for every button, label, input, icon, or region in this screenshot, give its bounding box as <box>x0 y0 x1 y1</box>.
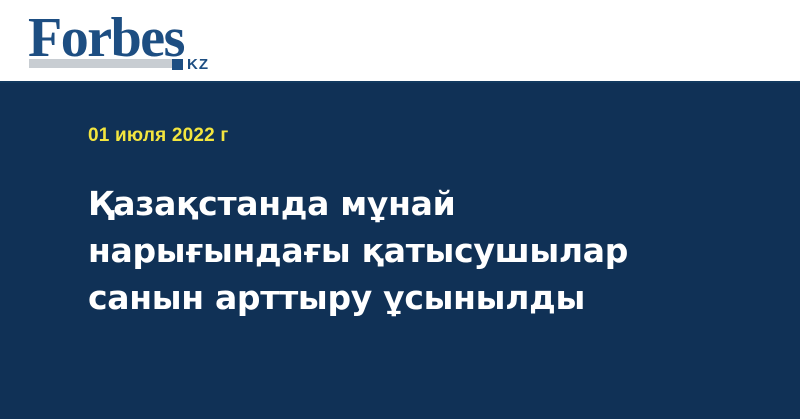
hero-panel: 01 июля 2022 г Қазақстанда мұнай нарығын… <box>0 83 800 419</box>
forbes-kz-logo[interactable]: Forbes KZ <box>28 10 228 76</box>
logo-kz-lockup: KZ <box>172 57 209 72</box>
article-share-card: Forbes KZ 01 июля 2022 г Қазақстанда мұн… <box>0 0 800 419</box>
article-title: Қазақстанда мұнай нарығындағы қатысушыла… <box>88 180 728 321</box>
square-bullet-icon <box>172 59 183 70</box>
logo-kz-text: KZ <box>187 57 209 72</box>
logo-rule <box>29 59 180 68</box>
site-header: Forbes KZ <box>0 0 800 83</box>
logo-wordmark: Forbes <box>28 10 184 66</box>
article-date: 01 июля 2022 г <box>88 125 229 147</box>
